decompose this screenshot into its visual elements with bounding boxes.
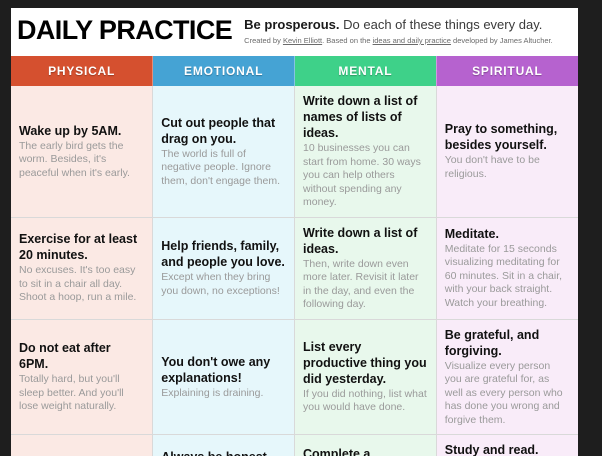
practice-title: Pray to something, besides yourself. — [445, 121, 569, 153]
practice-grid: PHYSICAL EMOTIONAL MENTAL SPIRITUAL Wake… — [11, 56, 578, 456]
practice-cell: Write down a list of ideas. Then, write … — [295, 217, 437, 319]
practice-desc: The world is full of negative people. Ig… — [161, 148, 285, 189]
practice-title: Be grateful, and forgiving. — [445, 327, 569, 359]
practice-desc: Meditate for 15 seconds visualizing medi… — [445, 243, 569, 311]
practice-desc: You don't have to be religious. — [445, 154, 569, 181]
practice-cell: Do not eat after 6PM. Totally hard, but … — [11, 319, 153, 435]
column-header-mental: MENTAL — [295, 56, 437, 86]
practice-desc: If you did nothing, list what you would … — [303, 388, 427, 415]
practice-cell: Complete a crossword or sudoku puzzle. P… — [295, 435, 437, 456]
tagline: Be prosperous. Do each of these things e… — [244, 17, 553, 33]
practice-title: Cut out people that drag on you. — [161, 115, 285, 147]
column-header-physical: PHYSICAL — [11, 56, 153, 86]
practice-title: Complete a crossword or sudoku puzzle. — [303, 446, 427, 456]
poster-page: DAILY PRACTICE Be prosperous. Do each of… — [11, 8, 578, 456]
table-row: Exercise for at least 20 minutes. No exc… — [11, 217, 578, 319]
table-row: Do not eat after 6PM. Totally hard, but … — [11, 319, 578, 435]
practice-cell: List every productive thing you did yest… — [295, 319, 437, 435]
practice-cell: Cut out people that drag on you. The wor… — [153, 86, 295, 217]
practice-title: Write down a list of ideas. — [303, 225, 427, 257]
practice-title: Meditate. — [445, 226, 569, 242]
practice-desc: No excuses. It's too easy to sit in a ch… — [19, 264, 143, 305]
practice-desc: Explaining is draining. — [161, 387, 285, 401]
practice-cell: Study and read. Read a bible, book on Bu… — [436, 435, 578, 456]
practice-title: Help friends, family, and people you lov… — [161, 238, 285, 270]
practice-title: List every productive thing you did yest… — [303, 339, 427, 387]
practice-desc: Totally hard, but you'll sleep better. A… — [19, 373, 143, 414]
practice-desc: Then, write down even more later. Revisi… — [303, 258, 427, 312]
practice-cell: Meditate. Meditate for 15 seconds visual… — [436, 217, 578, 319]
credits-text-1: Created by — [244, 36, 283, 45]
practice-cell: Help friends, family, and people you lov… — [153, 217, 295, 319]
credits-line: Created by Kevin Elliott. Based on the i… — [244, 35, 553, 46]
practice-title: Wake up by 5AM. — [19, 123, 143, 139]
practice-cell: Pray to something, besides yourself. You… — [436, 86, 578, 217]
credits-text-2: . Based on the — [322, 36, 372, 45]
practice-cell: Always be honest. Just because everyone … — [153, 435, 295, 456]
credits-text-3: developed by James Altucher. — [451, 36, 553, 45]
practice-cell: You don't owe any explanations! Explaini… — [153, 319, 295, 435]
table-row: Go to sleep by 9PM. 8 hours a night! Alw… — [11, 435, 578, 456]
column-header-emotional: EMOTIONAL — [153, 56, 295, 86]
practice-desc: Visualize every person you are grateful … — [445, 360, 569, 428]
practice-title: Exercise for at least 20 minutes. — [19, 231, 143, 263]
tagline-lead: Be prosperous. — [244, 17, 339, 32]
practice-desc: Except when they bring you down, no exce… — [161, 271, 285, 298]
practice-title: Do not eat after 6PM. — [19, 340, 143, 372]
practice-cell: Go to sleep by 9PM. 8 hours a night! — [11, 435, 153, 456]
practice-desc: 10 businesses you can start from home. 3… — [303, 142, 427, 210]
column-header-spiritual: SPIRITUAL — [436, 56, 578, 86]
tagline-block: Be prosperous. Do each of these things e… — [244, 15, 553, 46]
page-title: DAILY PRACTICE — [17, 15, 232, 45]
practice-title: You don't owe any explanations! — [161, 354, 285, 386]
practice-title: Always be honest. — [161, 449, 285, 456]
tagline-rest: Do each of these things every day. — [340, 17, 543, 32]
practice-title: Write down a list of names of lists of i… — [303, 93, 427, 141]
practice-cell: Exercise for at least 20 minutes. No exc… — [11, 217, 153, 319]
credits-author-link[interactable]: Kevin Elliott — [283, 36, 322, 45]
credits-source-link[interactable]: ideas and daily practice — [373, 36, 451, 45]
table-row: Wake up by 5AM. The early bird gets the … — [11, 86, 578, 217]
practice-cell: Write down a list of names of lists of i… — [295, 86, 437, 217]
practice-desc: The early bird gets the worm. Besides, i… — [19, 140, 143, 181]
poster-header: DAILY PRACTICE Be prosperous. Do each of… — [11, 8, 578, 56]
practice-title: Study and read. — [445, 442, 569, 456]
practice-cell: Be grateful, and forgiving. Visualize ev… — [436, 319, 578, 435]
grid-header-row: PHYSICAL EMOTIONAL MENTAL SPIRITUAL — [11, 56, 578, 86]
practice-cell: Wake up by 5AM. The early bird gets the … — [11, 86, 153, 217]
